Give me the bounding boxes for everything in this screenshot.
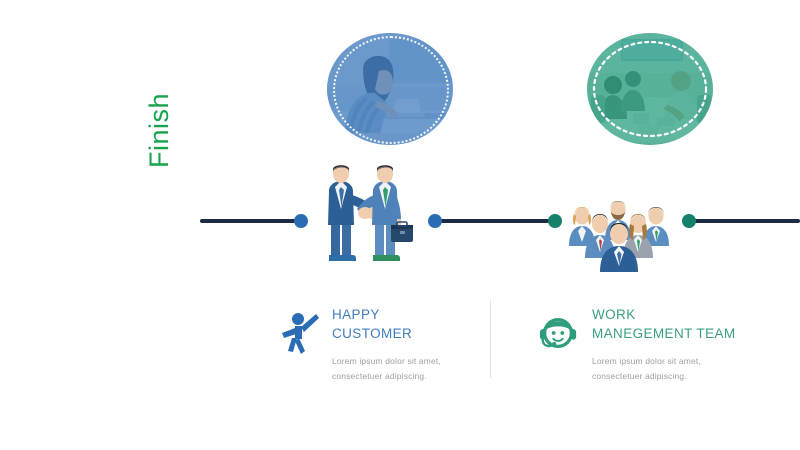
handshake-businessmen[interactable] bbox=[313, 163, 425, 267]
business-team-group[interactable] bbox=[567, 190, 671, 272]
timeline-node-2[interactable] bbox=[428, 214, 442, 228]
timeline-node-1[interactable] bbox=[294, 214, 308, 228]
entry-body-line2: consectetuer adipiscing. bbox=[332, 371, 427, 381]
entry-body-line1: Lorem ipsum dolor sit amet, bbox=[592, 356, 701, 366]
timeline-node-4[interactable] bbox=[682, 214, 696, 228]
photo-green-dotted-ring bbox=[589, 36, 711, 142]
jumping-person-icon bbox=[277, 311, 319, 355]
entry-title-line1: HAPPY bbox=[332, 307, 380, 322]
timeline-node-3[interactable] bbox=[548, 214, 562, 228]
slide-canvas: Finish bbox=[0, 0, 800, 450]
headset-support-icon bbox=[537, 311, 579, 355]
entry-work-management-team-text: WORK MANEGEMENT TEAM Lorem ipsum dolor s… bbox=[592, 305, 772, 384]
entry-title-line2: CUSTOMER bbox=[332, 326, 412, 341]
entry-happy-customer-title: HAPPY CUSTOMER bbox=[332, 305, 497, 343]
entry-happy-customer-body: Lorem ipsum dolor sit amet, consectetuer… bbox=[332, 354, 497, 384]
entries-divider bbox=[490, 300, 491, 378]
businessman-left bbox=[328, 165, 380, 261]
businessman-right bbox=[357, 165, 413, 261]
entry-body-line1: Lorem ipsum dolor sit amet, bbox=[332, 356, 441, 366]
entry-work-management-team-title: WORK MANEGEMENT TEAM bbox=[592, 305, 772, 343]
photo-woman-working[interactable] bbox=[327, 33, 453, 145]
timeline-segment-2 bbox=[432, 219, 556, 223]
stage-label-finish: Finish bbox=[143, 58, 175, 168]
entry-work-management-team-body: Lorem ipsum dolor sit amet, consectetuer… bbox=[592, 354, 772, 384]
photo-blue-tint bbox=[327, 33, 453, 145]
entry-body-line2: consectetuer adipiscing. bbox=[592, 371, 687, 381]
entry-happy-customer-text: HAPPY CUSTOMER Lorem ipsum dolor sit ame… bbox=[332, 305, 497, 384]
stage-label-text: Finish bbox=[143, 58, 175, 168]
entry-title-line2: MANEGEMENT TEAM bbox=[592, 326, 736, 341]
entry-title-line1: WORK bbox=[592, 307, 636, 322]
timeline-segment-3 bbox=[686, 219, 800, 223]
timeline-segment-1 bbox=[200, 219, 302, 223]
